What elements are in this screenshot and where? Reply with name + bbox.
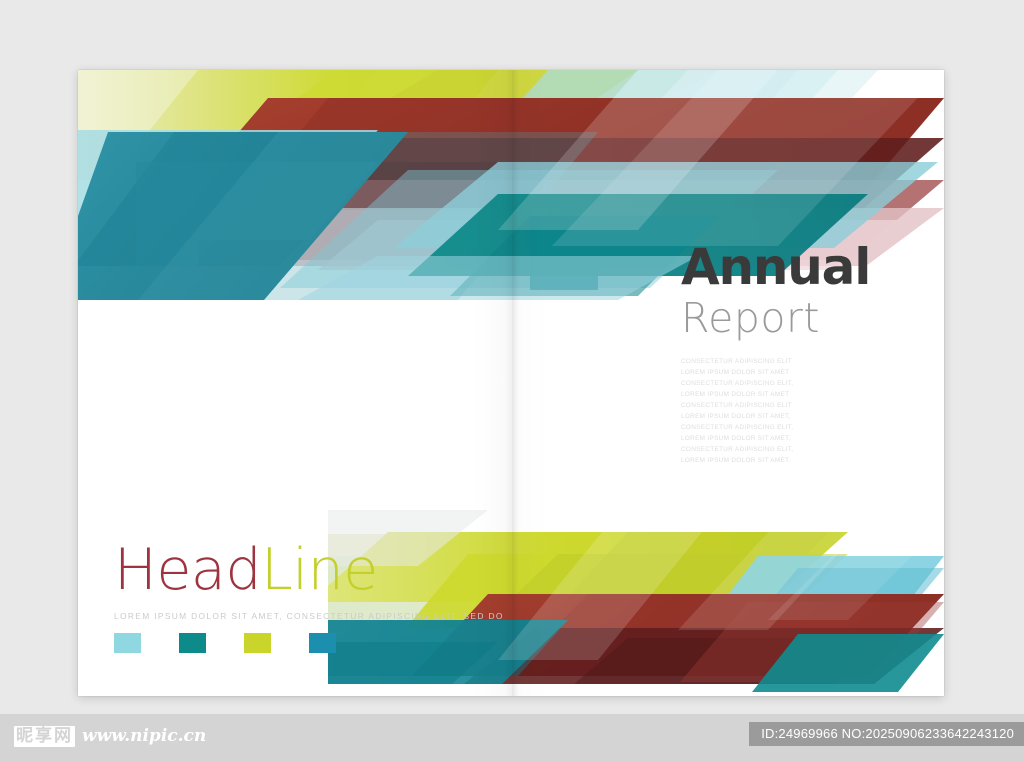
headline-word-head: Head bbox=[114, 537, 261, 603]
lorem-line: CONSECTETUR ADIPISCING ELIT bbox=[681, 356, 856, 367]
lorem-line: LOREM IPSUM DOLOR SIT AMET bbox=[681, 367, 856, 378]
lorem-line: CONSECTETUR ADIPISCING ELIT bbox=[681, 400, 856, 411]
lorem-line: LOREM IPSUM DOLOR SIT AMET, bbox=[681, 411, 856, 422]
lorem-line: LOREM IPSUM DOLOR SIT AMET, bbox=[681, 433, 856, 444]
title-report: Report bbox=[681, 294, 870, 342]
nipic-url[interactable]: www.nipic.cn bbox=[82, 726, 206, 746]
swatch-dark-teal bbox=[179, 633, 206, 653]
title-annual: Annual bbox=[681, 242, 870, 292]
lorem-text-block: CONSECTETUR ADIPISCING ELIT LOREM IPSUM … bbox=[681, 356, 856, 466]
headline-word-line: Line bbox=[261, 537, 378, 603]
lorem-line: CONSECTETUR ADIPISCING ELIT, bbox=[681, 378, 856, 389]
image-id-chip: ID:24969966 NO:20250906233642243120 bbox=[749, 722, 1024, 746]
swatch-light-cyan bbox=[114, 633, 141, 653]
screenshot-canvas: Annual Report CONSECTETUR ADIPISCING ELI… bbox=[0, 0, 1024, 762]
swatch-row bbox=[114, 633, 504, 653]
nipic-logo[interactable]: 昵享网 www.nipic.cn bbox=[14, 726, 206, 747]
swatch-lime bbox=[244, 633, 271, 653]
title-block: Annual Report bbox=[681, 242, 870, 342]
lorem-line: CONSECTETUR ADIPISCING ELIT, bbox=[681, 422, 856, 433]
lorem-line: LOREM IPSUM DOLOR SIT AMET bbox=[681, 389, 856, 400]
brochure-sheet: Annual Report CONSECTETUR ADIPISCING ELI… bbox=[78, 70, 944, 696]
nipic-brand-cjk: 昵享网 bbox=[14, 726, 75, 747]
headline-text: HeadLine bbox=[114, 542, 504, 599]
swatch-blue-teal bbox=[309, 633, 336, 653]
headline-subtitle: LOREM IPSUM DOLOR SIT AMET, CONSECTETUR … bbox=[114, 611, 504, 621]
headline-block: HeadLine LOREM IPSUM DOLOR SIT AMET, CON… bbox=[114, 542, 504, 653]
lorem-line: LOREM IPSUM DOLOR SIT AMET. bbox=[681, 455, 856, 466]
lorem-line: CONSECTETUR ADIPISCING ELIT, bbox=[681, 444, 856, 455]
